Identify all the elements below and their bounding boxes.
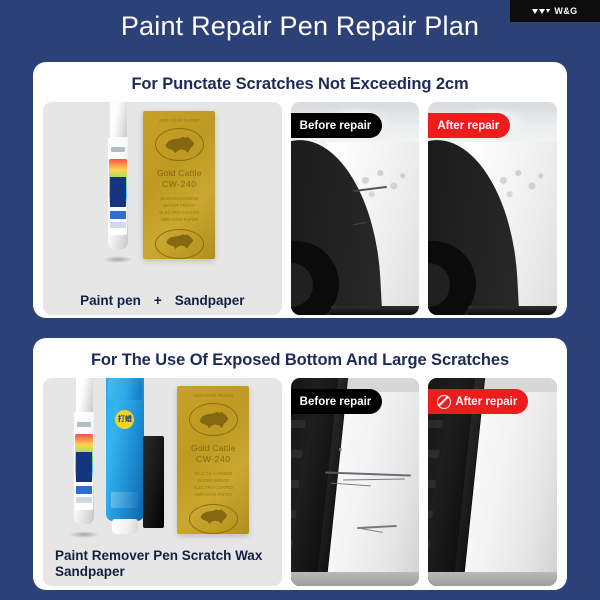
plus-separator: + [154,293,162,309]
tube-shoulder [108,378,142,400]
cattle-logo-icon [189,403,238,436]
pen-label [109,159,127,235]
bull-silhouette [199,508,227,524]
tyre-tread [291,540,293,548]
badge-label: Before repair [300,396,372,408]
sandpaper-top-text: ABRASIVE PAPER [193,393,233,399]
brand-name: W&G [554,6,577,16]
status-badge-after: After repair [428,113,510,138]
pen-cap [110,102,127,138]
pen-label-band [110,211,126,219]
infographic-page: W&G Paint Repair Pen Repair Plan For Pun… [0,0,600,600]
sponge-applicator-image [143,436,164,528]
pen-label-band [110,222,126,228]
wax-badge-label: 打蜡 [118,416,132,423]
car-sill [331,306,420,315]
brand-badge: W&G [510,0,600,22]
tyre-tread [291,420,306,428]
photo-after-repair: After repair [428,378,557,586]
badge-label: After repair [455,396,517,408]
badge-label: Before repair [300,120,372,132]
product-label-pen: Paint pen [80,293,141,309]
status-badge-before: Before repair [291,389,383,414]
pen-label-band [110,177,126,207]
bull-silhouette [198,411,228,429]
pen-label [75,434,93,510]
tube-label-text [111,492,139,508]
tyre-tread [428,450,440,458]
product-caption: Paint Remover Pen Scratch Wax Sandpaper [43,548,282,580]
photo-before-repair: Before repair [291,102,420,315]
section-card-large-scratches: For The Use Of Exposed Bottom And Large … [33,338,567,590]
status-badge-after: After repair [428,389,528,414]
product-caption: Paint pen + Sandpaper [43,293,282,309]
ground [291,572,420,586]
sandpaper-image: ABRASIVE PAPER Gold Cattle CW-240 SILICO… [143,111,215,259]
paint-pen-image [107,102,129,259]
sandpaper-brand: Gold Cattle [191,443,236,453]
photo-reflection [353,162,415,208]
badge-label: After repair [437,120,499,132]
section-card-punctate-scratches: For Punctate Scratches Not Exceeding 2cm [33,62,567,318]
cattle-logo-secondary-icon [155,229,204,259]
bull-silhouette [164,136,194,154]
product-label-sandpaper: Sandpaper [175,293,245,309]
ground [428,572,557,586]
sandpaper-details: SILICON CARBIDEWATER PROOFELECTRO COATED… [193,470,233,498]
product-images: ABRASIVE PAPER Gold Cattle CW-240 SILICO… [43,108,282,259]
pen-label-band [76,452,92,482]
sandpaper-brand: Gold Cattle [157,168,202,178]
section-body: 打蜡 ABRASIVE PAPER Gold Cattle CW-240 [43,378,557,586]
pen-shadow [103,256,133,263]
sandpaper-code: CW-240 [196,454,231,464]
cattle-logo-icon [155,128,204,161]
pen-top-mark [77,422,91,427]
tyre-tread [428,420,443,428]
product-panel: 打蜡 ABRASIVE PAPER Gold Cattle CW-240 [43,378,282,586]
tyre-tread [291,480,299,488]
photo-reflection [491,162,553,208]
paint-remover-pen-image [73,378,95,534]
no-entry-icon [437,395,451,409]
product-images: 打蜡 ABRASIVE PAPER Gold Cattle CW-240 [43,384,282,534]
tyre-tread [428,510,433,518]
pen-cap [76,378,93,413]
pen-label-band [76,486,92,494]
tyre-tread [291,510,296,518]
photo-before-repair: Before repair [291,378,420,586]
car-sill [468,306,557,315]
sandpaper-details: SILICON CARBIDEWATER PROOFELECTRO COATED… [159,195,199,223]
tyre-tread [428,480,436,488]
cattle-logo-secondary-icon [189,504,238,534]
tyre-tread [428,540,430,548]
section-heading: For Punctate Scratches Not Exceeding 2cm [43,71,557,97]
triangle-marks-icon [532,9,550,14]
product-panel: ABRASIVE PAPER Gold Cattle CW-240 SILICO… [43,102,282,315]
section-heading: For The Use Of Exposed Bottom And Large … [43,347,557,373]
photo-after-repair: After repair [428,102,557,315]
sandpaper-top-text: ABRASIVE PAPER [159,118,199,124]
pen-label-band [76,497,92,503]
tyre-tread [291,450,303,458]
section-body: ABRASIVE PAPER Gold Cattle CW-240 SILICO… [43,102,557,315]
scratch-wax-tube-image: 打蜡 [106,378,144,534]
sandpaper-image: ABRASIVE PAPER Gold Cattle CW-240 SILICO… [177,386,249,534]
status-badge-before: Before repair [291,113,383,138]
sandpaper-code: CW-240 [162,179,197,189]
pen-top-mark [111,147,125,152]
pen-shadow [69,531,99,538]
bull-silhouette [165,233,193,249]
tube-cap [112,519,138,534]
scratch-dot [339,448,342,451]
